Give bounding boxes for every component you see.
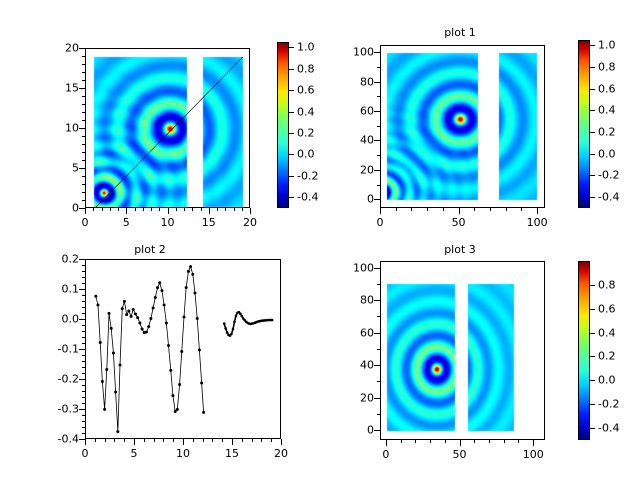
- data-point-marker: [154, 296, 157, 299]
- y-minor-tick: [82, 277, 85, 278]
- y-minor-tick: [377, 333, 380, 334]
- y-tick-label: -0.4: [39, 433, 79, 446]
- y-minor-tick: [82, 349, 85, 350]
- x-minor-tick: [126, 208, 127, 211]
- y-minor-tick: [82, 361, 85, 362]
- data-point-marker: [152, 307, 155, 310]
- colorbar-tick-label: -0.2: [598, 398, 619, 411]
- data-point-marker: [178, 383, 181, 386]
- y-minor-tick: [82, 96, 85, 97]
- colorbar-tick: [289, 197, 294, 198]
- data-point-marker: [116, 430, 119, 433]
- y-minor-tick: [82, 168, 85, 169]
- data-point-marker: [241, 315, 244, 318]
- x-minor-tick: [212, 439, 213, 442]
- data-point-marker: [165, 322, 168, 325]
- y-tick-label: 0: [334, 424, 374, 437]
- plot3-heatmap-canvas: [381, 262, 545, 440]
- data-point-marker: [176, 408, 179, 411]
- data-point-marker: [233, 321, 236, 324]
- y-minor-tick: [82, 403, 85, 404]
- y-minor-tick: [82, 176, 85, 177]
- x-minor-tick: [427, 208, 428, 211]
- y-minor-tick: [82, 421, 85, 422]
- y-minor-tick: [377, 199, 380, 200]
- y-tick-label: 15: [39, 82, 79, 95]
- colorbar-tick-label: -0.2: [598, 169, 619, 182]
- y-tick-label: 10: [39, 122, 79, 135]
- colorbar-tick: [590, 45, 595, 46]
- y-minor-tick: [82, 112, 85, 113]
- y-minor-tick: [377, 126, 380, 127]
- y-minor-tick: [377, 52, 380, 53]
- y-minor-tick: [82, 64, 85, 65]
- x-tick-label: 20: [243, 216, 257, 229]
- data-point-marker: [121, 307, 124, 310]
- y-tick-label: 5: [39, 162, 79, 175]
- x-minor-tick: [474, 440, 475, 443]
- x-minor-tick: [144, 439, 145, 442]
- x-minor-tick: [411, 208, 412, 211]
- y-minor-tick: [82, 415, 85, 416]
- y-minor-tick: [82, 104, 85, 105]
- y-minor-tick: [82, 48, 85, 49]
- colorbar-tick-label: 0.6: [598, 82, 616, 95]
- data-point-marker: [185, 286, 188, 289]
- colorbar-tick-label: -0.2: [297, 169, 318, 182]
- y-minor-tick: [377, 381, 380, 382]
- colorbar-tick-label: 0.0: [598, 147, 616, 160]
- x-minor-tick: [443, 208, 444, 211]
- data-point-marker: [232, 328, 235, 331]
- y-minor-tick: [377, 111, 380, 112]
- x-minor-tick: [192, 208, 193, 211]
- y-tick-label: 80: [334, 75, 374, 88]
- data-point-marker: [271, 319, 274, 322]
- x-minor-tick: [118, 208, 119, 211]
- x-minor-tick: [110, 208, 111, 211]
- x-minor-tick: [201, 208, 202, 211]
- data-point-marker: [169, 369, 172, 372]
- data-point-marker: [156, 286, 159, 289]
- y-minor-tick: [377, 365, 380, 366]
- y-minor-tick: [82, 184, 85, 185]
- colorbar-tick: [289, 133, 294, 134]
- y-tick-label: 60: [334, 326, 374, 339]
- figure-canvas: 0510152005101520 -0.4-0.20.00.20.40.60.8…: [0, 0, 640, 480]
- plot1-title: plot 1: [360, 26, 560, 39]
- x-tick-label: 50: [452, 216, 466, 229]
- y-minor-tick: [82, 337, 85, 338]
- data-point-marker: [163, 304, 166, 307]
- y-tick-label: -0.3: [39, 403, 79, 416]
- x-tick-label: 0: [82, 447, 89, 460]
- colorbar-tick: [289, 90, 294, 91]
- colorbar-tick-label: 0.6: [297, 84, 315, 97]
- x-minor-tick: [105, 439, 106, 442]
- panel-plot2: plot 2 05101520-0.4-0.3-0.2-0.10.00.10.2: [0, 240, 320, 480]
- colorbar-tick-label: 0.4: [598, 104, 616, 117]
- y-tick-label: 40: [334, 359, 374, 372]
- y-minor-tick: [82, 379, 85, 380]
- y-minor-tick: [377, 82, 380, 83]
- colorbar-tick-label: 1.0: [297, 41, 315, 54]
- x-minor-tick: [193, 439, 194, 442]
- x-minor-tick: [225, 208, 226, 211]
- y-minor-tick: [82, 385, 85, 386]
- data-point-marker: [132, 308, 135, 311]
- y-minor-tick: [377, 284, 380, 285]
- x-minor-tick: [242, 208, 243, 211]
- x-minor-tick: [490, 208, 491, 211]
- y-minor-tick: [82, 397, 85, 398]
- y-tick-label: 0.2: [39, 253, 79, 266]
- data-point-marker: [96, 304, 99, 307]
- x-minor-tick: [489, 440, 490, 443]
- colorbar-tick-label: 0.6: [598, 302, 616, 315]
- y-minor-tick: [377, 268, 380, 269]
- data-point-marker: [138, 322, 141, 325]
- x-minor-tick: [518, 440, 519, 443]
- y-minor-tick: [82, 301, 85, 302]
- x-minor-tick: [261, 439, 262, 442]
- x-tick-label: 5: [123, 216, 130, 229]
- line-series-segment-1: [96, 267, 204, 432]
- x-tick-label: 100: [523, 448, 544, 461]
- data-point-marker: [141, 328, 144, 331]
- x-minor-tick: [281, 439, 282, 442]
- data-point-marker: [189, 265, 192, 268]
- plot1-heatmap-canvas: [381, 46, 545, 208]
- x-tick-label: 20: [274, 447, 288, 460]
- data-point-marker: [202, 411, 205, 414]
- data-point-marker: [160, 289, 163, 292]
- colorbar-tick-label: 0.2: [598, 350, 616, 363]
- plot1-image-area: [381, 46, 545, 208]
- colorbar-tick-label: 0.2: [598, 126, 616, 139]
- y-minor-tick: [377, 155, 380, 156]
- data-point-marker: [149, 317, 152, 320]
- x-minor-tick: [124, 439, 125, 442]
- y-minor-tick: [82, 136, 85, 137]
- plot3-colorbar: [578, 261, 590, 440]
- colorbar-tick-label: 0.0: [598, 374, 616, 387]
- y-minor-tick: [82, 367, 85, 368]
- data-point-marker: [110, 327, 113, 330]
- y-minor-tick: [82, 331, 85, 332]
- y-tick-label: 0.0: [39, 313, 79, 326]
- plot2-line-canvas: [86, 260, 281, 439]
- x-minor-tick: [234, 208, 235, 211]
- x-tick-label: 0: [382, 448, 389, 461]
- x-minor-tick: [159, 208, 160, 211]
- plot3-title: plot 3: [360, 243, 560, 256]
- y-minor-tick: [82, 283, 85, 284]
- colorbar-tick: [289, 112, 294, 113]
- x-minor-tick: [430, 440, 431, 443]
- x-minor-tick: [250, 208, 251, 211]
- y-minor-tick: [82, 160, 85, 161]
- y-minor-tick: [82, 355, 85, 356]
- y-minor-tick: [82, 313, 85, 314]
- data-point-marker: [239, 312, 242, 315]
- colorbar-tick-label: 0.0: [297, 148, 315, 161]
- y-tick-label: -0.1: [39, 343, 79, 356]
- y-tick-label: 100: [334, 261, 374, 274]
- data-point-marker: [147, 325, 150, 328]
- y-minor-tick: [82, 80, 85, 81]
- y-minor-tick: [82, 200, 85, 201]
- y-minor-tick: [82, 88, 85, 89]
- x-minor-tick: [143, 208, 144, 211]
- y-tick-label: 40: [334, 134, 374, 147]
- x-minor-tick: [217, 208, 218, 211]
- panel-plot3: plot 3 050100020406080100 -0.4-0.20.00.2…: [320, 240, 640, 480]
- plot1-colorbar: [578, 40, 590, 208]
- plot0-image-area: [86, 49, 250, 208]
- colorbar-tick: [590, 285, 595, 286]
- colorbar-tick-label: 0.4: [297, 105, 315, 118]
- data-point-marker: [167, 344, 170, 347]
- data-point-marker: [103, 408, 106, 411]
- colorbar-tick-label: 0.8: [297, 62, 315, 75]
- y-minor-tick: [377, 300, 380, 301]
- colorbar-tick: [590, 404, 595, 405]
- panel-plot0: 0510152005101520 -0.4-0.20.00.20.40.60.8…: [0, 0, 320, 240]
- plot3-image-area: [381, 262, 545, 440]
- x-minor-tick: [176, 208, 177, 211]
- x-minor-tick: [537, 208, 538, 211]
- y-tick-label: 60: [334, 105, 374, 118]
- panel-plot1: plot 1 050100020406080100 -0.4-0.20.00.2…: [320, 0, 640, 240]
- data-point-marker: [224, 327, 227, 330]
- colorbar-tick: [590, 175, 595, 176]
- plot0-colorbar: [277, 42, 289, 208]
- colorbar-tick: [289, 176, 294, 177]
- x-minor-tick: [163, 439, 164, 442]
- data-point-marker: [101, 380, 104, 383]
- data-point-marker: [187, 270, 190, 273]
- colorbar-tick: [590, 110, 595, 111]
- colorbar-tick-label: 0.4: [598, 326, 616, 339]
- x-minor-tick: [183, 439, 184, 442]
- x-minor-tick: [396, 208, 397, 211]
- y-minor-tick: [82, 433, 85, 434]
- x-tick-label: 5: [131, 447, 138, 460]
- colorbar-tick: [289, 69, 294, 70]
- y-minor-tick: [82, 128, 85, 129]
- data-point-marker: [198, 349, 201, 352]
- x-tick-label: 15: [202, 216, 216, 229]
- data-point-marker: [136, 316, 139, 319]
- x-minor-tick: [232, 439, 233, 442]
- y-minor-tick: [82, 427, 85, 428]
- x-minor-tick: [222, 439, 223, 442]
- y-minor-tick: [82, 72, 85, 73]
- x-tick-label: 0: [377, 216, 384, 229]
- y-minor-tick: [377, 96, 380, 97]
- y-minor-tick: [377, 430, 380, 431]
- colorbar-tick: [590, 197, 595, 198]
- y-minor-tick: [82, 289, 85, 290]
- colorbar-tick-label: 0.8: [598, 278, 616, 291]
- plot2-axes: [85, 259, 281, 439]
- plot0-overlay-line: [86, 49, 250, 208]
- x-minor-tick: [521, 208, 522, 211]
- x-minor-tick: [445, 440, 446, 443]
- data-point-marker: [196, 317, 199, 320]
- data-point-marker: [145, 331, 148, 334]
- diagonal-overlay-line: [91, 57, 243, 208]
- x-minor-tick: [151, 208, 152, 211]
- x-tick-label: 50: [453, 448, 467, 461]
- colorbar-tick: [590, 154, 595, 155]
- colorbar-tick-label: -0.4: [598, 191, 619, 204]
- x-minor-tick: [474, 208, 475, 211]
- data-point-marker: [226, 331, 229, 334]
- x-minor-tick: [85, 439, 86, 442]
- y-tick-label: 0.1: [39, 283, 79, 296]
- x-minor-tick: [209, 208, 210, 211]
- colorbar-tick: [590, 89, 595, 90]
- data-point-marker: [134, 313, 137, 316]
- x-minor-tick: [460, 440, 461, 443]
- data-point-marker: [193, 292, 196, 295]
- y-tick-label: 100: [334, 46, 374, 59]
- data-point-marker: [223, 322, 226, 325]
- x-minor-tick: [386, 440, 387, 443]
- y-minor-tick: [82, 409, 85, 410]
- y-minor-tick: [82, 152, 85, 153]
- x-minor-tick: [504, 440, 505, 443]
- y-minor-tick: [82, 391, 85, 392]
- x-tick-label: 10: [176, 447, 190, 460]
- y-tick-label: 0: [334, 193, 374, 206]
- data-point-marker: [125, 313, 128, 316]
- x-minor-tick: [415, 440, 416, 443]
- y-minor-tick: [377, 349, 380, 350]
- colorbar-tick-label: 0.2: [297, 127, 315, 140]
- plot3-axes: [380, 261, 545, 440]
- x-minor-tick: [459, 208, 460, 211]
- y-minor-tick: [82, 120, 85, 121]
- y-minor-tick: [82, 373, 85, 374]
- y-major-tick: [79, 259, 85, 260]
- data-point-marker: [94, 295, 97, 298]
- x-minor-tick: [506, 208, 507, 211]
- x-minor-tick: [401, 440, 402, 443]
- x-tick-label: 100: [527, 216, 548, 229]
- x-minor-tick: [380, 208, 381, 211]
- data-point-marker: [171, 394, 174, 397]
- colorbar-tick-label: -0.4: [598, 422, 619, 435]
- y-minor-tick: [377, 185, 380, 186]
- x-minor-tick: [85, 208, 86, 211]
- y-minor-tick: [377, 414, 380, 415]
- colorbar-tick: [590, 333, 595, 334]
- data-point-marker: [230, 333, 233, 336]
- y-minor-tick: [377, 316, 380, 317]
- y-minor-tick: [82, 265, 85, 266]
- y-minor-tick: [82, 192, 85, 193]
- x-tick-label: 15: [225, 447, 239, 460]
- data-point-marker: [235, 315, 238, 318]
- x-minor-tick: [135, 208, 136, 211]
- y-minor-tick: [377, 140, 380, 141]
- x-minor-tick: [154, 439, 155, 442]
- x-minor-tick: [252, 439, 253, 442]
- x-minor-tick: [203, 439, 204, 442]
- x-tick-label: 10: [161, 216, 175, 229]
- colorbar-tick: [289, 154, 294, 155]
- x-minor-tick: [184, 208, 185, 211]
- data-point-marker: [130, 315, 133, 318]
- y-minor-tick: [82, 144, 85, 145]
- y-tick-label: -0.2: [39, 373, 79, 386]
- y-tick-label: 20: [334, 163, 374, 176]
- colorbar-tick-label: 0.8: [598, 61, 616, 74]
- colorbar-tick: [590, 356, 595, 357]
- y-minor-tick: [377, 170, 380, 171]
- data-point-marker: [200, 382, 203, 385]
- y-minor-tick: [377, 67, 380, 68]
- colorbar-tick: [590, 428, 595, 429]
- data-point-marker: [174, 410, 177, 413]
- y-minor-tick: [82, 295, 85, 296]
- y-tick-label: 20: [39, 42, 79, 55]
- data-point-marker: [112, 352, 115, 355]
- colorbar-tick-label: -0.4: [297, 191, 318, 204]
- x-minor-tick: [93, 208, 94, 211]
- x-tick-label: 0: [82, 216, 89, 229]
- data-point-marker: [119, 364, 122, 367]
- y-minor-tick: [377, 398, 380, 399]
- x-minor-tick: [242, 439, 243, 442]
- x-minor-tick: [102, 208, 103, 211]
- y-minor-tick: [82, 271, 85, 272]
- x-minor-tick: [173, 439, 174, 442]
- y-tick-label: 80: [334, 294, 374, 307]
- x-minor-tick: [95, 439, 96, 442]
- y-minor-tick: [82, 319, 85, 320]
- data-point-marker: [123, 300, 126, 303]
- x-minor-tick: [533, 440, 534, 443]
- x-minor-tick: [168, 208, 169, 211]
- y-minor-tick: [82, 343, 85, 344]
- colorbar-tick: [590, 67, 595, 68]
- colorbar-tick: [590, 132, 595, 133]
- data-point-marker: [105, 368, 108, 371]
- y-tick-label: 0: [39, 202, 79, 215]
- x-minor-tick: [134, 439, 135, 442]
- colorbar-tick-label: 1.0: [598, 39, 616, 52]
- colorbar-tick: [590, 380, 595, 381]
- y-tick-label: 20: [334, 391, 374, 404]
- colorbar-tick: [289, 47, 294, 48]
- x-minor-tick: [271, 439, 272, 442]
- x-minor-tick: [114, 439, 115, 442]
- data-point-marker: [180, 350, 183, 353]
- y-minor-tick: [82, 307, 85, 308]
- plot1-axes: [380, 45, 545, 208]
- y-minor-tick: [82, 56, 85, 57]
- data-point-marker: [191, 273, 194, 276]
- data-point-marker: [108, 312, 111, 315]
- data-point-marker: [183, 316, 186, 319]
- plot0-axes: [85, 48, 250, 208]
- y-minor-tick: [82, 208, 85, 209]
- y-minor-tick: [82, 439, 85, 440]
